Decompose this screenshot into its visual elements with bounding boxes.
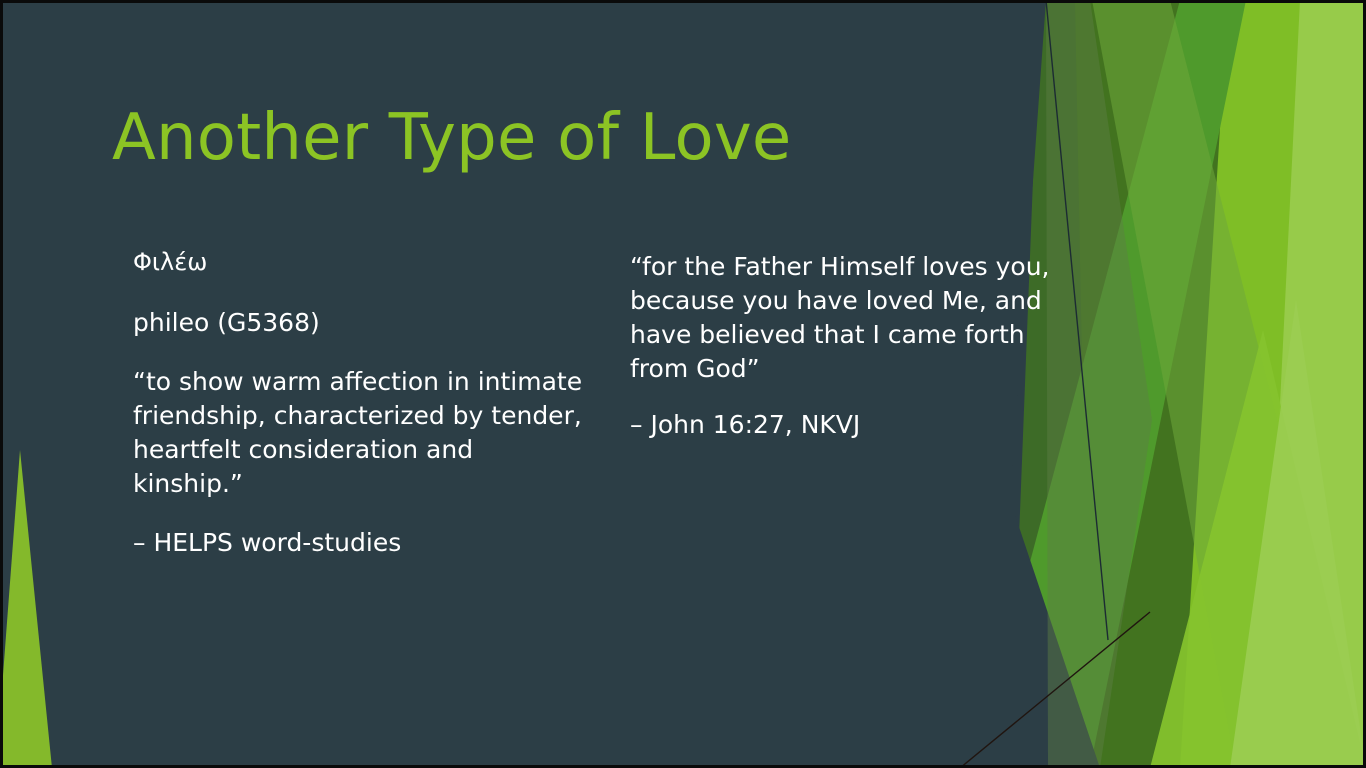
left-spike-shape bbox=[0, 450, 52, 768]
green-shape-cross-overlay bbox=[1092, 0, 1366, 768]
green-shape-bright-band bbox=[1180, 0, 1366, 768]
green-shape-pale-band bbox=[1262, 0, 1366, 768]
slide-title: Another Type of Love bbox=[112, 105, 792, 173]
scripture-quote-text: “for the Father Himself loves you, becau… bbox=[630, 250, 1070, 386]
right-text-column: “for the Father Himself loves you, becau… bbox=[630, 250, 1070, 464]
left-text-column: Φιλέω phileo (G5368) “to show warm affec… bbox=[133, 246, 588, 585]
green-shape-lower-bright bbox=[1150, 330, 1366, 768]
definition-text: “to show warm affection in intimate frie… bbox=[133, 365, 588, 501]
transliteration-text: phileo (G5368) bbox=[133, 306, 588, 340]
scripture-citation-text: – John 16:27, NKVJ bbox=[630, 408, 1070, 442]
left-spike-shape-front bbox=[0, 450, 52, 768]
green-shape-forest-wedge bbox=[1075, 0, 1366, 768]
presentation-slide: Another Type of Love Φιλέω phileo (G5368… bbox=[0, 0, 1366, 768]
hairline-diagonal-lower bbox=[960, 612, 1150, 768]
greek-word-text: Φιλέω bbox=[133, 246, 588, 279]
green-shape-lower-pale bbox=[1230, 300, 1366, 768]
definition-source-text: – HELPS word-studies bbox=[133, 526, 588, 560]
